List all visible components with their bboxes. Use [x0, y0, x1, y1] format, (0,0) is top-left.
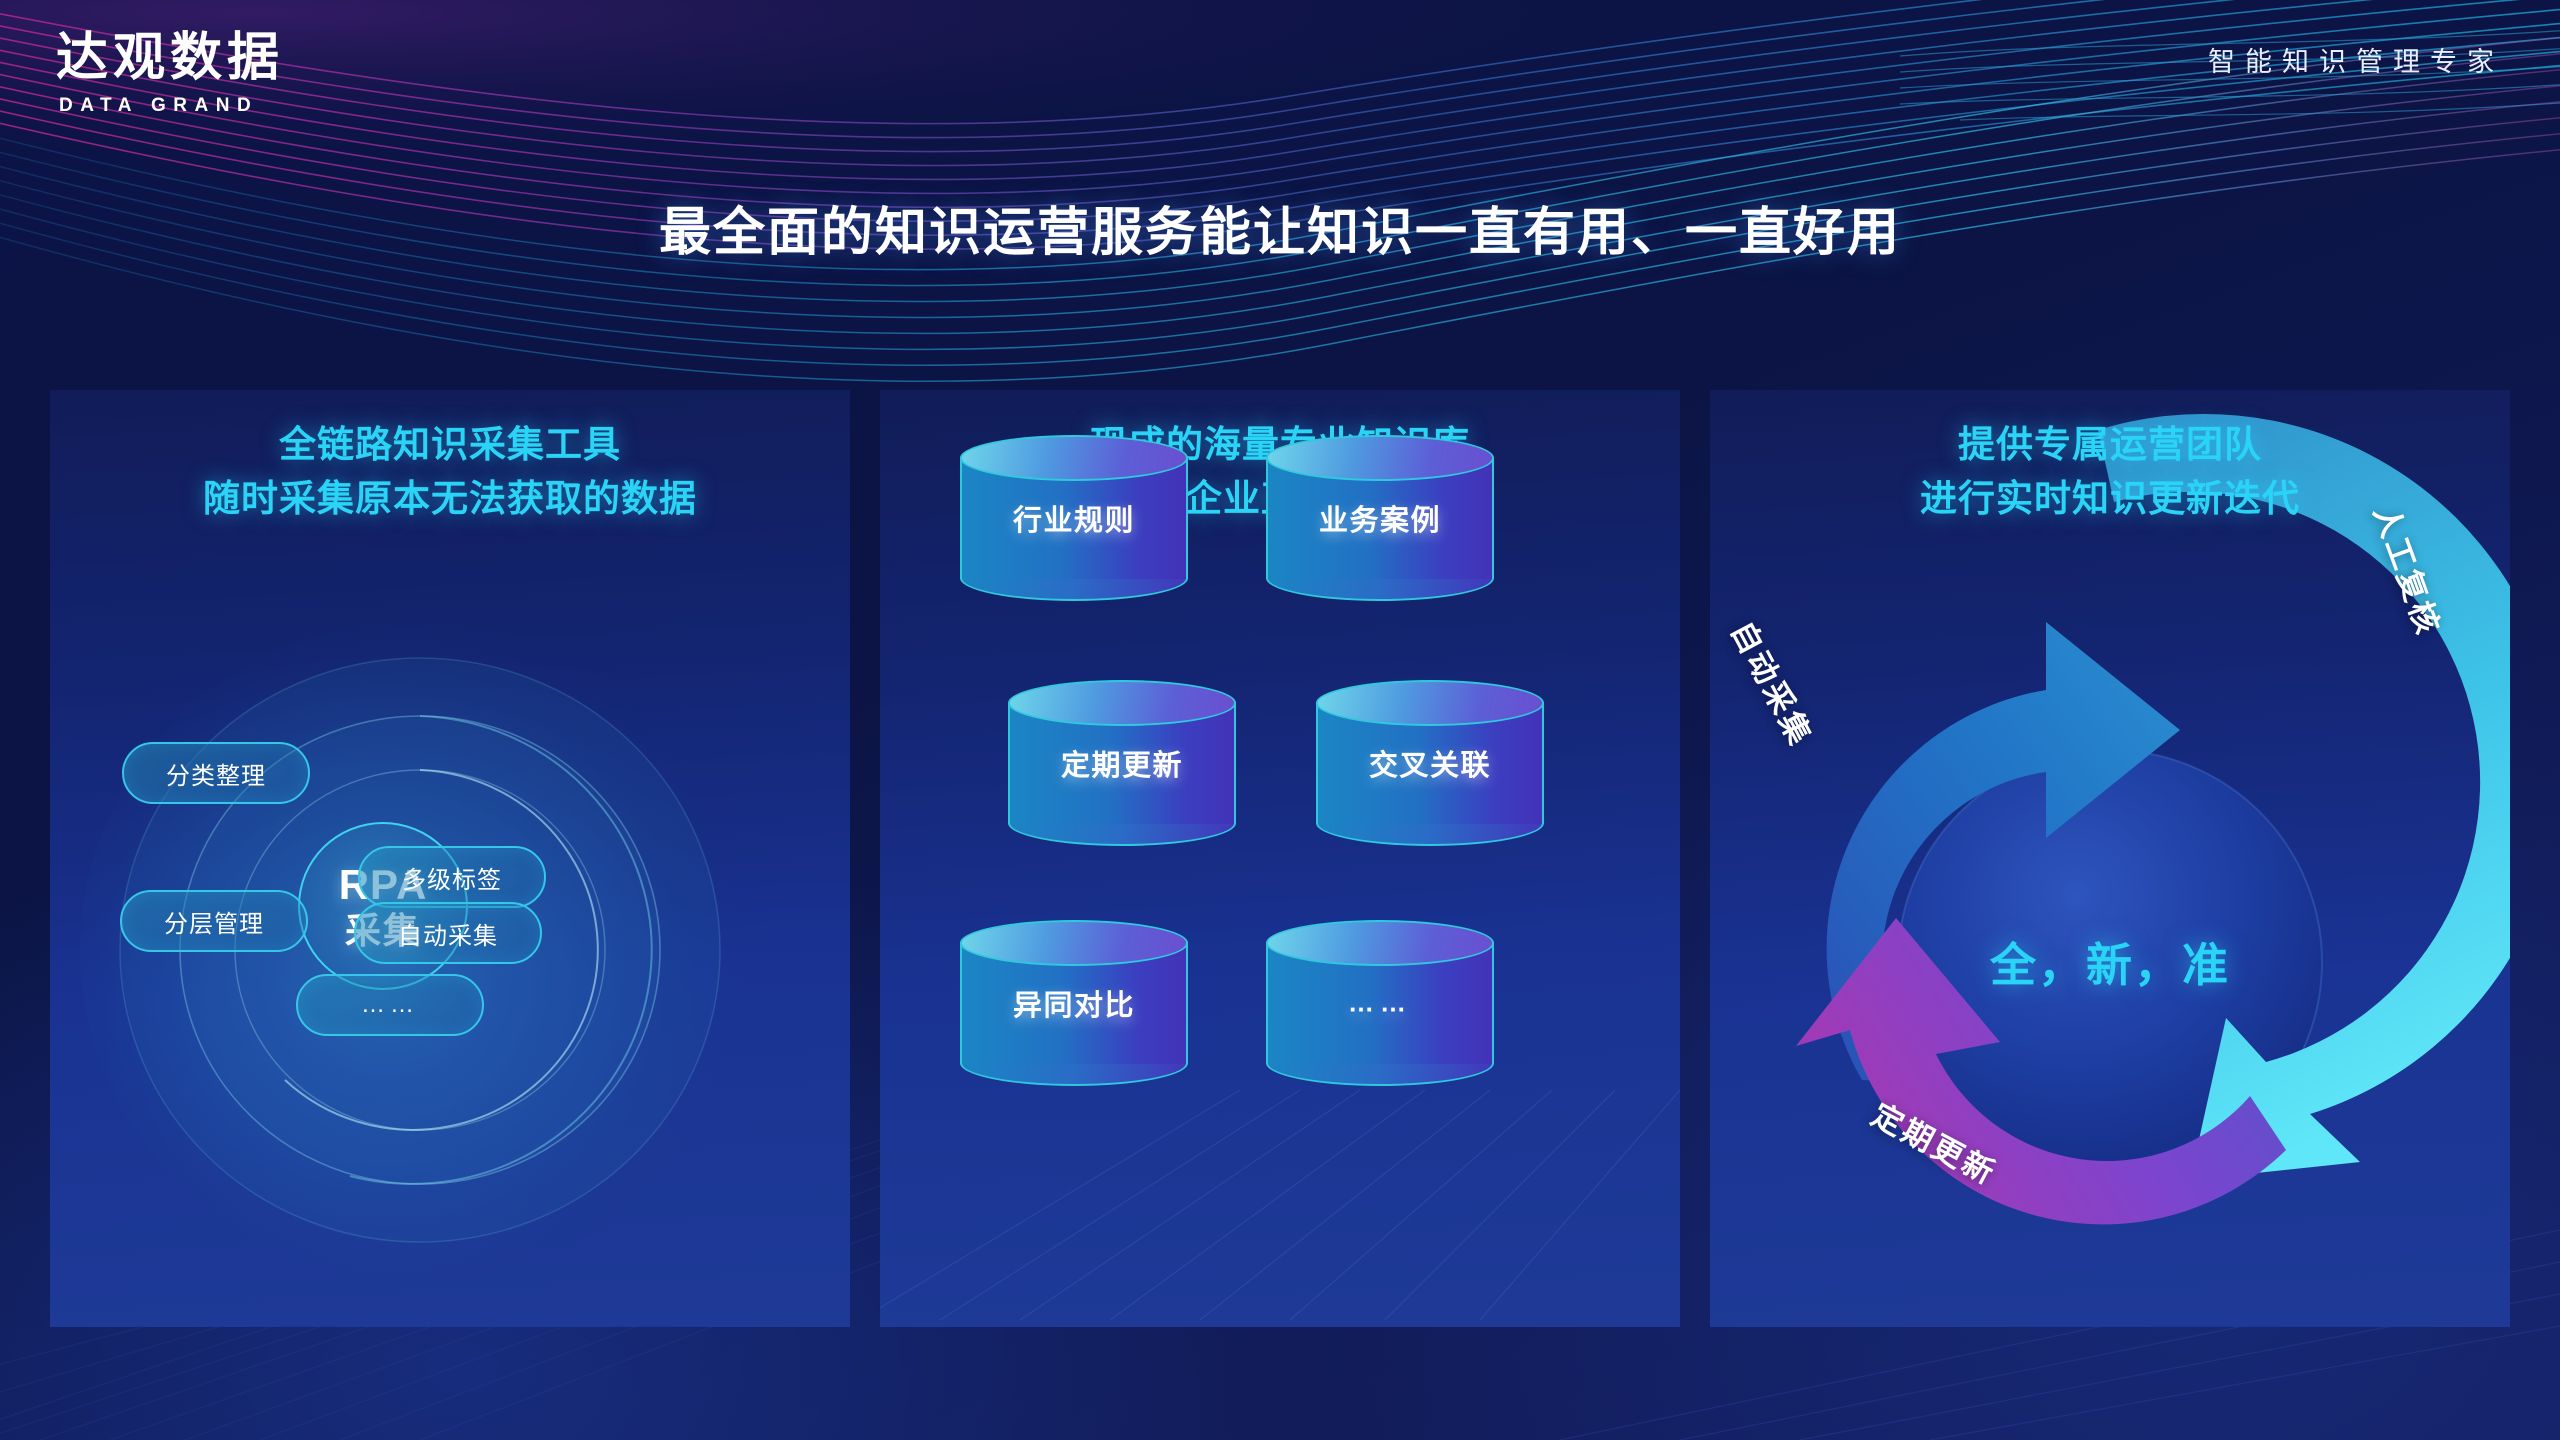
radial-node-more[interactable]: …… [296, 974, 484, 1036]
cylinder-label: 异同对比 [960, 982, 1188, 1024]
card-1-heading-line-2: 随时采集原本无法获取的数据 [50, 472, 850, 526]
cylinder-diff-compare[interactable]: 异同对比 [960, 920, 1188, 1086]
cylinder-top [1008, 680, 1236, 726]
card-1-heading-line-1: 全链路知识采集工具 [50, 418, 850, 472]
card-collection-tools[interactable]: 全链路知识采集工具 随时采集原本无法获取的数据 [50, 390, 850, 1327]
brand-logo: 达观数据 DATA GRAND [56, 30, 284, 117]
card-1-heading: 全链路知识采集工具 随时采集原本无法获取的数据 [50, 390, 850, 525]
radial-node-label: …… [361, 991, 419, 1019]
card-operations-team[interactable]: 提供专属运营团队 进行实时知识更新迭代 [1710, 390, 2510, 1327]
cylinder-top [1316, 680, 1544, 726]
radial-node-label: 多级标签 [402, 860, 502, 895]
radial-node-zidong-caiji[interactable]: 自动采集 [354, 902, 542, 964]
cylinder-top [960, 435, 1188, 481]
card-row: 全链路知识采集工具 随时采集原本无法获取的数据 [50, 390, 2510, 1327]
radial-node-label: 分层管理 [164, 904, 264, 939]
cylinder-top [1266, 920, 1494, 966]
cylinder-industry-rules[interactable]: 行业规则 [960, 435, 1188, 601]
radial-node-fenceng-guanli[interactable]: 分层管理 [120, 890, 308, 952]
cylinder-label: 定期更新 [1008, 742, 1236, 784]
cylinder-label: …… [1266, 988, 1494, 1019]
cylinder-label: 业务案例 [1266, 497, 1494, 539]
slide-root: 达观数据 DATA GRAND 智能知识管理专家 最全面的知识运营服务能让知识一… [0, 0, 2560, 1440]
radial-node-fenlei-zhengli[interactable]: 分类整理 [122, 742, 310, 804]
radial-node-label: 自动采集 [398, 916, 498, 951]
brand-tagline: 智能知识管理专家 [2208, 40, 2504, 79]
logo-text-en: DATA GRAND [56, 95, 284, 117]
radial-node-label: 分类整理 [166, 756, 266, 791]
page-title: 最全面的知识运营服务能让知识一直有用、一直好用 [0, 190, 2560, 265]
card-3-heading-line-1: 提供专属运营团队 [1710, 418, 2510, 472]
cylinder-business-cases[interactable]: 业务案例 [1266, 435, 1494, 601]
cylinder-label: 行业规则 [960, 497, 1188, 539]
cylinder-top [960, 920, 1188, 966]
cylinder-label: 交叉关联 [1316, 742, 1544, 784]
cylinder-cross-link[interactable]: 交叉关联 [1316, 680, 1544, 846]
cylinder-regular-update[interactable]: 定期更新 [1008, 680, 1236, 846]
cylinder-top [1266, 435, 1494, 481]
radial-node-duoji-biaoqian[interactable]: 多级标签 [358, 846, 546, 908]
cylinder-more[interactable]: …… [1266, 920, 1494, 1086]
logo-text-cn: 达观数据 [56, 30, 284, 87]
card-knowledge-base[interactable]: 现成的海量专业知识库 供企业直接使用 行业规则 [880, 390, 1680, 1327]
cycle-center-label: 全，新，准 [1990, 929, 2230, 995]
